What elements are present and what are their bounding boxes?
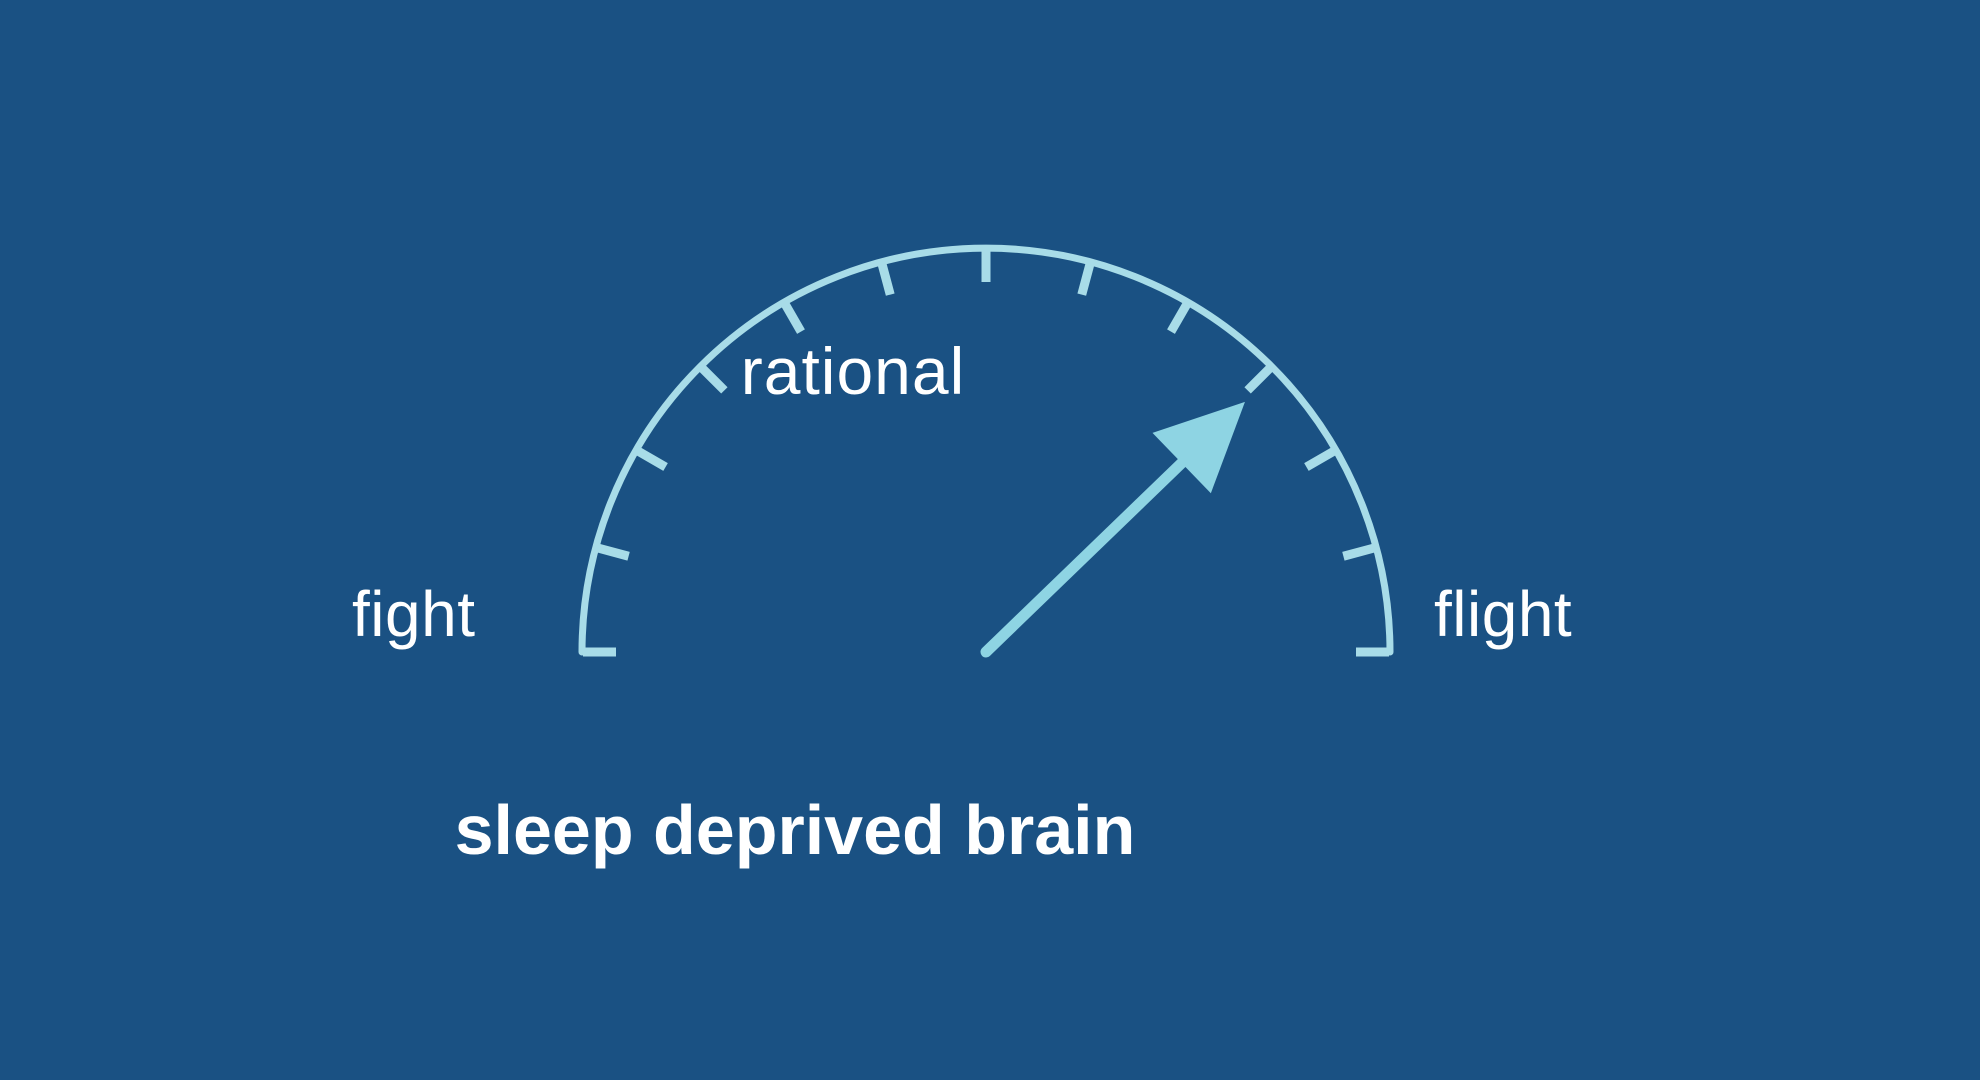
gauge-tick xyxy=(597,548,629,557)
gauge-tick xyxy=(1343,548,1375,557)
gauge-arc xyxy=(582,248,1390,652)
needle-shaft xyxy=(986,442,1203,652)
gauge-needle xyxy=(986,402,1245,652)
gauge-label-fight: fight xyxy=(352,582,475,646)
gauge-svg xyxy=(0,0,1980,1080)
gauge-tick xyxy=(1082,263,1091,295)
gauge-label-flight: flight xyxy=(1434,582,1572,646)
gauge-tick xyxy=(1306,451,1335,468)
gauge-group xyxy=(582,248,1390,652)
gauge-tick xyxy=(637,451,666,468)
gauge-tick xyxy=(785,303,802,332)
gauge-tick-marks xyxy=(583,249,1389,652)
gauge-tick xyxy=(1171,303,1188,332)
caption-sleep-deprived-brain: sleep deprived brain xyxy=(0,795,1785,865)
gauge-tick xyxy=(882,263,891,295)
gauge-label-rational: rational xyxy=(0,338,1843,404)
gauge-illustration: rational fight flight sleep deprived bra… xyxy=(0,0,1980,1080)
